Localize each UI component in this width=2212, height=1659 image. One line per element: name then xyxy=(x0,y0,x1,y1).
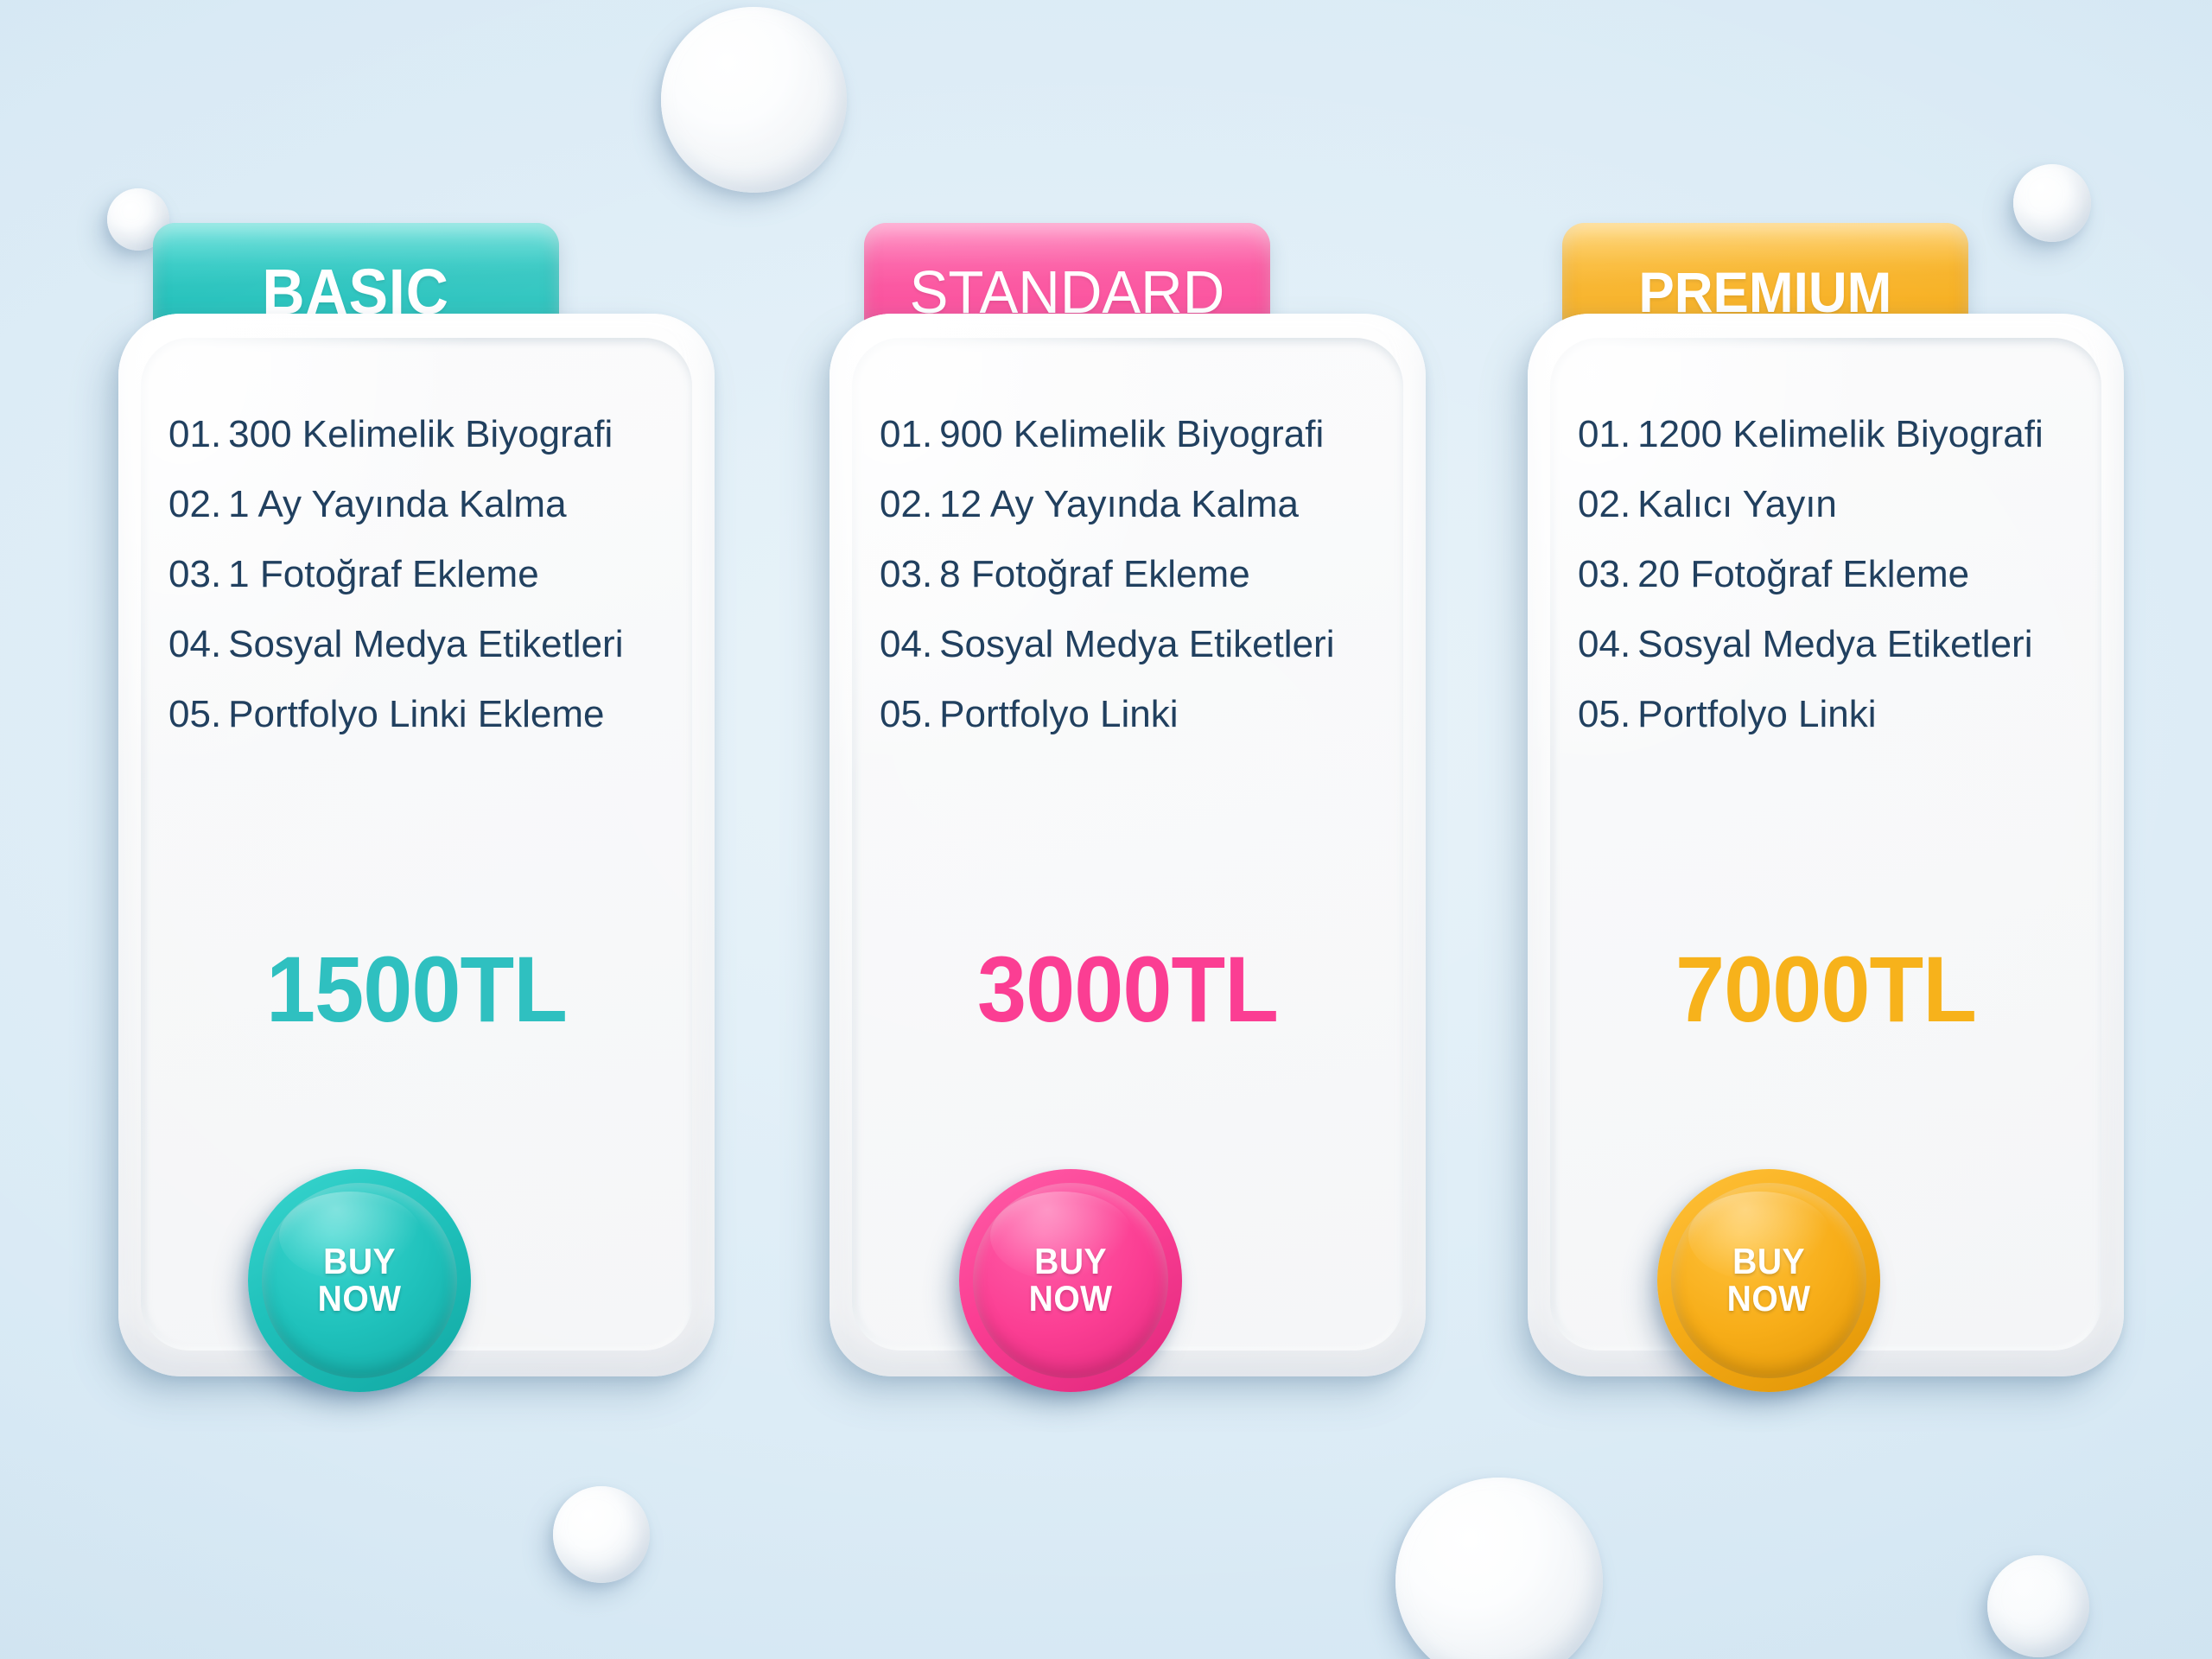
feature-item: 03.8 Fotoğraf Ekleme xyxy=(880,556,1426,594)
buy-now-label-line2: NOW xyxy=(318,1281,402,1318)
feature-text: 20 Fotoğraf Ekleme xyxy=(1637,553,1969,595)
feature-item: 01.300 Kelimelik Biyografi xyxy=(168,416,715,454)
feature-text: 1 Ay Yayında Kalma xyxy=(228,483,566,525)
feature-list-standard: 01.900 Kelimelik Biyografi02.12 Ay Yayın… xyxy=(880,416,1426,734)
pricing-card-list: BASIC01.300 Kelimelik Biyografi02.1 Ay Y… xyxy=(0,0,2212,1659)
feature-text: 1200 Kelimelik Biyografi xyxy=(1637,413,2044,455)
feature-item: 02.12 Ay Yayında Kalma xyxy=(880,486,1426,524)
pricing-page: BASIC01.300 Kelimelik Biyografi02.1 Ay Y… xyxy=(0,0,2212,1659)
feature-number: 05. xyxy=(168,693,221,735)
feature-item: 02.1 Ay Yayında Kalma xyxy=(168,486,715,524)
feature-text: Sosyal Medya Etiketleri xyxy=(228,623,623,665)
feature-text: 900 Kelimelik Biyografi xyxy=(939,413,1324,455)
buy-now-label: BUYNOW xyxy=(1727,1243,1811,1318)
feature-number: 02. xyxy=(168,483,221,525)
feature-item: 02.Kalıcı Yayın xyxy=(1578,486,2124,524)
buy-now-label: BUYNOW xyxy=(1029,1243,1113,1318)
feature-number: 02. xyxy=(1578,483,1630,525)
feature-item: 04.Sosyal Medya Etiketleri xyxy=(168,626,715,664)
feature-text: Portfolyo Linki Ekleme xyxy=(228,693,604,735)
feature-number: 05. xyxy=(1578,693,1630,735)
plan-price-premium: 7000TL xyxy=(1542,943,2109,1036)
pricing-card-basic: BASIC01.300 Kelimelik Biyografi02.1 Ay Y… xyxy=(118,223,723,1398)
plan-name-premium: PREMIUM xyxy=(1639,264,1892,321)
feature-number: 01. xyxy=(168,413,221,455)
feature-text: Portfolyo Linki xyxy=(939,693,1178,735)
pricing-card-premium: PREMIUM01.1200 Kelimelik Biyografi02.Kal… xyxy=(1528,223,2133,1398)
feature-text: Sosyal Medya Etiketleri xyxy=(939,623,1334,665)
feature-text: Kalıcı Yayın xyxy=(1637,483,1837,525)
buy-now-button-basic[interactable]: BUYNOW xyxy=(248,1169,471,1392)
feature-text: 1 Fotoğraf Ekleme xyxy=(228,553,539,595)
feature-item: 03.1 Fotoğraf Ekleme xyxy=(168,556,715,594)
feature-item: 05.Portfolyo Linki xyxy=(1578,696,2124,734)
buy-now-button-premium[interactable]: BUYNOW xyxy=(1657,1169,1880,1392)
feature-text: 12 Ay Yayında Kalma xyxy=(939,483,1299,525)
pricing-card-standard: STANDARD01.900 Kelimelik Biyografi02.12 … xyxy=(829,223,1434,1398)
feature-text: 8 Fotoğraf Ekleme xyxy=(939,553,1250,595)
plan-price-basic: 1500TL xyxy=(133,943,700,1036)
buy-now-label: BUYNOW xyxy=(318,1243,402,1318)
plan-price-standard: 3000TL xyxy=(844,943,1411,1036)
feature-number: 05. xyxy=(880,693,932,735)
feature-text: 300 Kelimelik Biyografi xyxy=(228,413,613,455)
feature-item: 05.Portfolyo Linki Ekleme xyxy=(168,696,715,734)
buy-now-label-line1: BUY xyxy=(1727,1243,1811,1281)
feature-number: 04. xyxy=(880,623,932,665)
feature-item: 04.Sosyal Medya Etiketleri xyxy=(880,626,1426,664)
buy-now-label-line2: NOW xyxy=(1029,1281,1113,1318)
feature-text: Sosyal Medya Etiketleri xyxy=(1637,623,2032,665)
feature-item: 01.900 Kelimelik Biyografi xyxy=(880,416,1426,454)
buy-now-button-standard[interactable]: BUYNOW xyxy=(959,1169,1182,1392)
feature-number: 03. xyxy=(1578,553,1630,595)
feature-item: 03.20 Fotoğraf Ekleme xyxy=(1578,556,2124,594)
buy-now-label-line1: BUY xyxy=(1029,1243,1113,1281)
buy-now-label-line1: BUY xyxy=(318,1243,402,1281)
feature-list-basic: 01.300 Kelimelik Biyografi02.1 Ay Yayınd… xyxy=(168,416,715,734)
feature-item: 01.1200 Kelimelik Biyografi xyxy=(1578,416,2124,454)
feature-number: 03. xyxy=(880,553,932,595)
feature-number: 02. xyxy=(880,483,932,525)
feature-text: Portfolyo Linki xyxy=(1637,693,1876,735)
feature-number: 03. xyxy=(168,553,221,595)
feature-item: 05.Portfolyo Linki xyxy=(880,696,1426,734)
plan-content-premium: 01.1200 Kelimelik Biyografi02.Kalıcı Yay… xyxy=(1528,314,2124,734)
feature-number: 01. xyxy=(880,413,932,455)
buy-now-label-line2: NOW xyxy=(1727,1281,1811,1318)
plan-content-basic: 01.300 Kelimelik Biyografi02.1 Ay Yayınd… xyxy=(118,314,715,734)
feature-list-premium: 01.1200 Kelimelik Biyografi02.Kalıcı Yay… xyxy=(1578,416,2124,734)
feature-number: 01. xyxy=(1578,413,1630,455)
feature-number: 04. xyxy=(1578,623,1630,665)
plan-content-standard: 01.900 Kelimelik Biyografi02.12 Ay Yayın… xyxy=(829,314,1426,734)
feature-item: 04.Sosyal Medya Etiketleri xyxy=(1578,626,2124,664)
feature-number: 04. xyxy=(168,623,221,665)
